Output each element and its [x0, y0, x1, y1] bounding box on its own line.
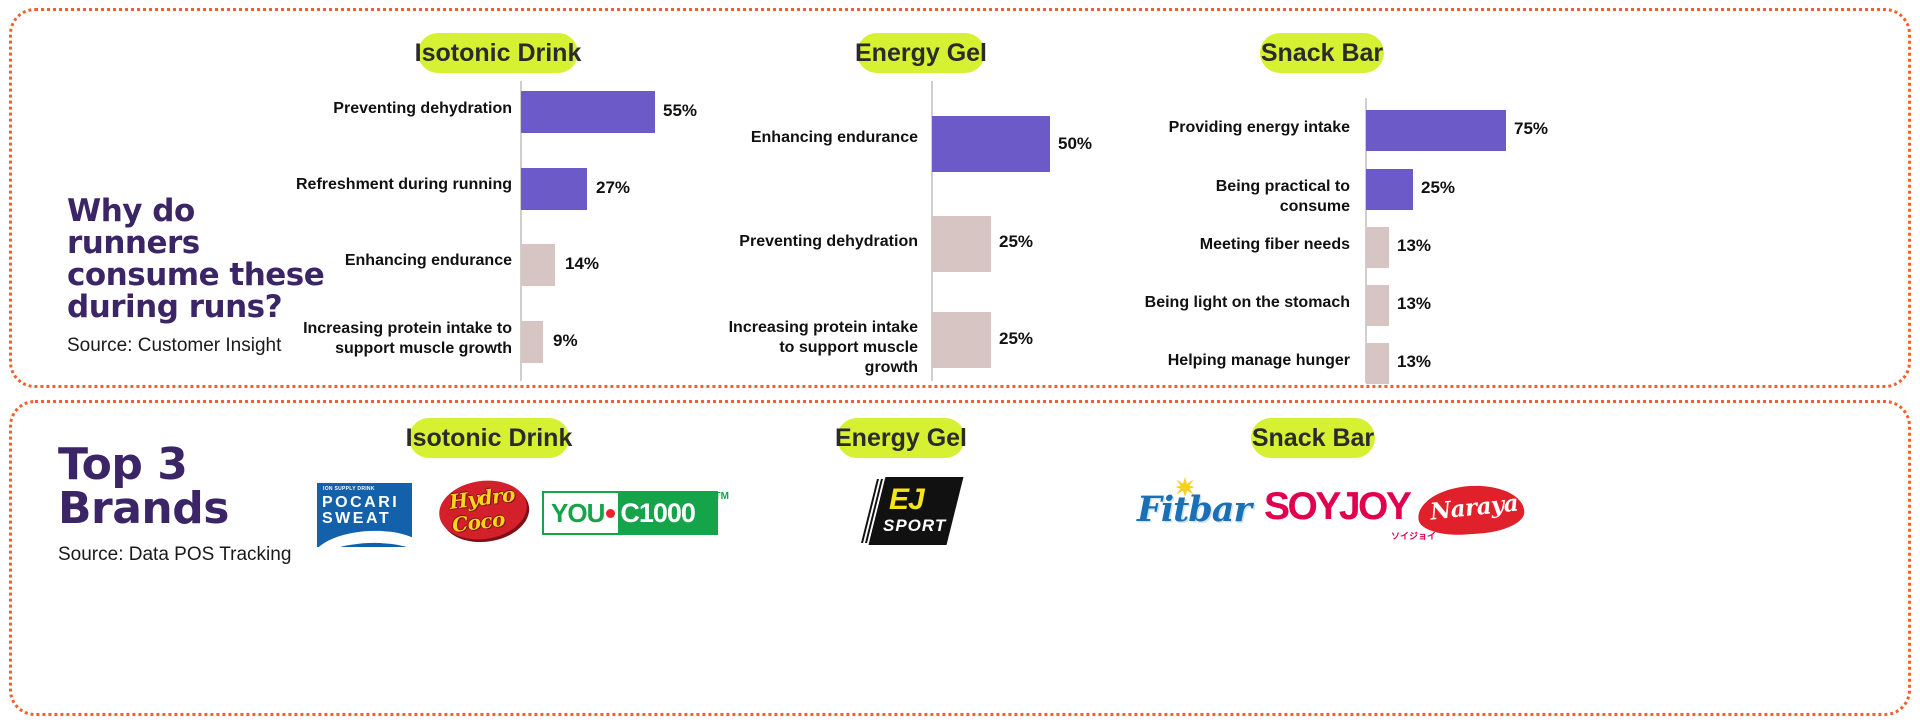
- bar-value: 9%: [553, 331, 578, 351]
- youc-right-text: C1000: [618, 493, 716, 533]
- pocari-line-2: SWEAT: [322, 511, 391, 527]
- logo-hydro-coco[interactable]: Hydro Coco: [437, 475, 529, 547]
- logo-pocari-sweat[interactable]: ION SUPPLY DRINK POCARI SWEAT: [317, 483, 412, 547]
- bar-value: 14%: [565, 254, 599, 274]
- bar-rect: [1366, 110, 1506, 151]
- bar-chart-isotonic-drink: Preventing dehydration 55% Refreshment d…: [12, 11, 732, 391]
- logo-soyjoy[interactable]: SOYJOY ソイジョイ: [1264, 485, 1444, 539]
- brand-pill-snack-bar[interactable]: Snack Bar: [1251, 418, 1375, 458]
- bar-label: Enhancing endurance: [272, 251, 512, 271]
- bar-label: Preventing dehydration: [722, 232, 918, 252]
- logo-naraya[interactable]: Naraya: [1418, 481, 1524, 539]
- bar-label: Being light on the stomach: [1142, 293, 1350, 313]
- bar-label: Being practical to consume: [1142, 177, 1350, 217]
- bar-label: Preventing dehydration: [272, 99, 512, 119]
- bar-rect: [521, 168, 587, 210]
- bar-rect: [1366, 169, 1413, 210]
- fitbar-wordmark: Fitbar: [1137, 489, 1255, 530]
- bar-rect: [932, 116, 1050, 172]
- bar-rect: [1366, 227, 1389, 268]
- bar-value: 75%: [1514, 119, 1548, 139]
- bar-rect: [521, 244, 555, 286]
- bar-label: Increasing protein intake to support mus…: [262, 319, 512, 359]
- youc-left-text: YOU: [544, 498, 604, 529]
- bar-value: 25%: [999, 232, 1033, 252]
- bar-value: 55%: [663, 101, 697, 121]
- brand-pill-isotonic-drink[interactable]: Isotonic Drink: [409, 418, 569, 458]
- logo-fitbar[interactable]: Fitbar: [1137, 489, 1255, 537]
- soyjoy-wordmark: SOYJOY: [1264, 485, 1444, 529]
- youc-dot-icon: [606, 509, 615, 518]
- bar-chart-snack-bar: Providing energy intake 75% Being practi…: [1152, 11, 1852, 391]
- bar-value: 25%: [1421, 178, 1455, 198]
- bar-chart-energy-gel: Enhancing endurance 50% Preventing dehyd…: [732, 11, 1152, 391]
- bar-value: 27%: [596, 178, 630, 198]
- logo-you-c1000[interactable]: YOU C1000 TM: [542, 491, 718, 535]
- bar-label: Refreshment during running: [272, 175, 512, 195]
- youc-trademark-icon: TM: [715, 491, 729, 502]
- ej-line-2: SPORT: [883, 516, 946, 536]
- bar-value: 13%: [1397, 352, 1431, 372]
- bar-rect: [1366, 343, 1389, 384]
- bar-label: Meeting fiber needs: [1142, 235, 1350, 255]
- bar-value: 13%: [1397, 236, 1431, 256]
- bar-value: 13%: [1397, 294, 1431, 314]
- bar-label: Increasing protein intake to support mus…: [722, 318, 918, 378]
- top-brands-panel: Top 3 Brands Source: Data POS Tracking I…: [9, 400, 1911, 716]
- bar-rect: [1366, 285, 1389, 326]
- insights-panel: Why do runners consume these during runs…: [9, 8, 1911, 388]
- brand-pill-energy-gel[interactable]: Energy Gel: [837, 418, 965, 458]
- bar-rect: [521, 321, 543, 363]
- ej-line-1: EJ: [889, 483, 924, 517]
- source-note-pos: Source: Data POS Tracking: [58, 544, 378, 566]
- bar-value: 25%: [999, 329, 1033, 349]
- bar-label: Helping manage hunger: [1142, 351, 1350, 371]
- top-brands-title-line-1: Top 3: [58, 443, 378, 487]
- bar-rect: [521, 91, 655, 133]
- bar-rect: [932, 312, 991, 368]
- pocari-tagline: ION SUPPLY DRINK: [323, 486, 375, 492]
- bar-rect: [932, 216, 991, 272]
- logo-ej-sport[interactable]: EJ SPORT: [867, 475, 965, 547]
- bar-label: Enhancing endurance: [722, 128, 918, 148]
- pocari-line-1: POCARI: [322, 495, 399, 511]
- bar-label: Providing energy intake: [1142, 118, 1350, 138]
- bar-value: 50%: [1058, 134, 1092, 154]
